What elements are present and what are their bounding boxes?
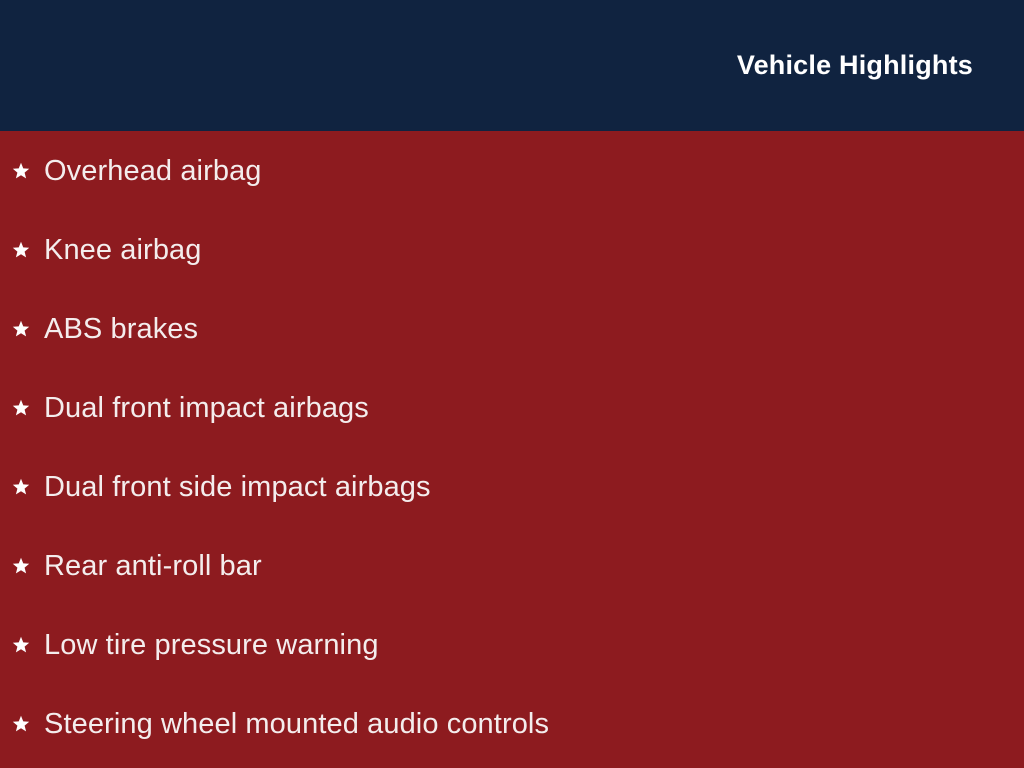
star-icon [12, 715, 30, 733]
list-item-label: ABS brakes [44, 312, 198, 346]
star-icon [12, 478, 30, 496]
list-item: Dual front side impact airbags [0, 447, 1024, 526]
star-icon [12, 557, 30, 575]
star-icon [12, 241, 30, 259]
page-title: Vehicle Highlights [737, 51, 973, 81]
list-item: Knee airbag [0, 210, 1024, 289]
list-item-label: Low tire pressure warning [44, 628, 379, 662]
list-item-label: Dual front side impact airbags [44, 470, 431, 504]
list-item: Rear anti-roll bar [0, 526, 1024, 605]
list-item: Steering wheel mounted audio controls [0, 684, 1024, 763]
list-item-label: Steering wheel mounted audio controls [44, 707, 549, 741]
list-item-label: Rear anti-roll bar [44, 549, 262, 583]
star-icon [12, 162, 30, 180]
slide-header: Vehicle Highlights [0, 0, 1024, 131]
list-item-label: Overhead airbag [44, 154, 262, 188]
slide-body: Overhead airbag Knee airbag ABS brakes [0, 131, 1024, 768]
list-item-label: Dual front impact airbags [44, 391, 369, 425]
vehicle-highlights-list: Overhead airbag Knee airbag ABS brakes [0, 131, 1024, 763]
list-item: Dual front impact airbags [0, 368, 1024, 447]
slide: Vehicle Highlights Overhead airbag Knee … [0, 0, 1024, 768]
star-icon [12, 636, 30, 654]
star-icon [12, 399, 30, 417]
list-item: ABS brakes [0, 289, 1024, 368]
list-item-label: Knee airbag [44, 233, 202, 267]
star-icon [12, 320, 30, 338]
list-item: Overhead airbag [0, 131, 1024, 210]
list-item: Low tire pressure warning [0, 605, 1024, 684]
